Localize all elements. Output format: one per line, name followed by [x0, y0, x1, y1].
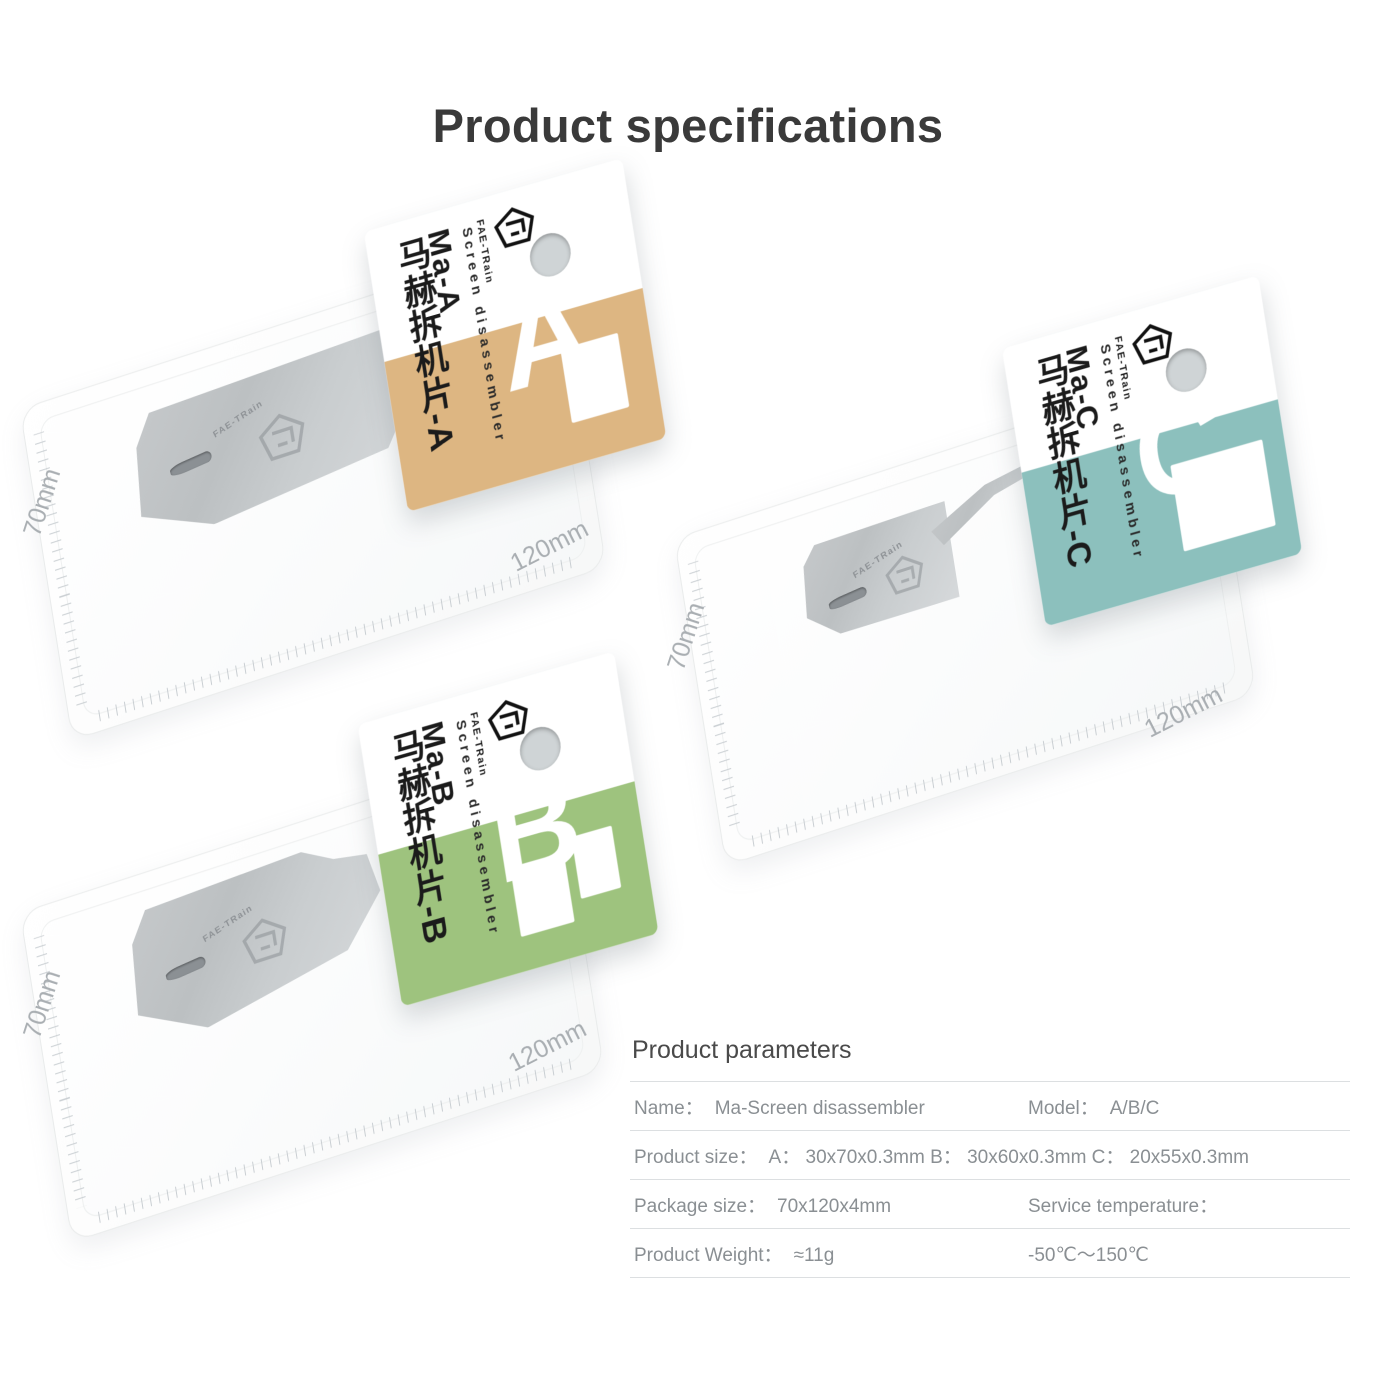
- blade-slot-b: [165, 955, 207, 983]
- hang-card-ma-a: A 马赫拆机片-A Ma-A Screen disassembler FAE-T…: [364, 158, 667, 512]
- product-spec-page: Product specifications FAE-TRain A: [0, 0, 1376, 1376]
- param-package-size-cell: Package size：70x120x4mm: [630, 1191, 1024, 1218]
- param-product-size-label: Product size：: [634, 1147, 758, 1168]
- hang-card-ma-b: B 马赫拆机片-B Ma-B Screen disassembler FAE-T…: [357, 651, 658, 1006]
- param-name-cell: Name：Ma-Screen disassembler: [630, 1093, 1024, 1120]
- param-row-product-size: Product size：A： 30x70x0.3mm B： 30x60x0.3…: [630, 1130, 1350, 1179]
- param-name-label: Name：: [634, 1098, 704, 1119]
- param-temperature-range-value: -50℃～150℃: [1028, 1245, 1149, 1266]
- param-row-name: Name：Ma-Screen disassembler Model：A/B/C: [630, 1081, 1350, 1130]
- product-parameters-panel: Product parameters Name：Ma-Screen disass…: [630, 1036, 1350, 1278]
- param-model-value: A/B/C: [1110, 1098, 1160, 1119]
- page-title: Product specifications: [0, 98, 1376, 153]
- card-window-a: [560, 333, 629, 423]
- param-product-size-value: A： 30x70x0.3mm B： 30x60x0.3mm C： 20x55x0…: [769, 1147, 1249, 1168]
- blade-slot-a: [169, 450, 213, 479]
- param-name-value: Ma-Screen disassembler: [715, 1098, 925, 1119]
- param-weight-cell: Product Weight：≈11g: [630, 1240, 1024, 1267]
- param-product-size-cell: Product size：A： 30x70x0.3mm B： 30x60x0.3…: [630, 1142, 1249, 1169]
- param-row-package-size: Package size：70x120x4mm Service temperat…: [630, 1179, 1350, 1228]
- param-temperature-range-cell: -50℃～150℃: [1024, 1240, 1350, 1267]
- param-package-size-label: Package size：: [634, 1196, 766, 1217]
- param-model-cell: Model：A/B/C: [1024, 1093, 1350, 1120]
- param-service-temperature-cell: Service temperature：: [1024, 1191, 1350, 1218]
- param-model-label: Model：: [1028, 1098, 1099, 1119]
- param-package-size-value: 70x120x4mm: [777, 1196, 891, 1217]
- param-row-weight: Product Weight：≈11g -50℃～150℃: [630, 1228, 1350, 1278]
- parameters-section-title: Product parameters: [632, 1036, 1350, 1065]
- param-weight-value: ≈11g: [794, 1245, 835, 1266]
- diamond-logo-icon: [252, 402, 313, 471]
- param-weight-label: Product Weight：: [634, 1245, 783, 1266]
- param-service-temperature-label: Service temperature：: [1028, 1196, 1218, 1217]
- hang-card-ma-c: C 马赫拆机片-C Ma-C Screen disassembler FAE-T…: [1002, 275, 1302, 626]
